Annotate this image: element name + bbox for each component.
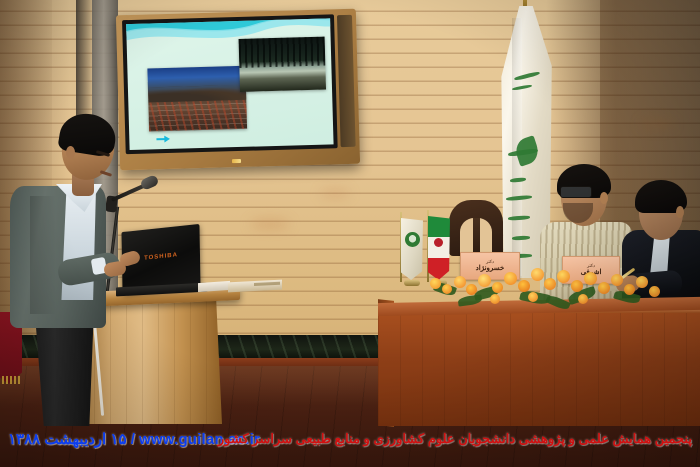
eyeglasses-icon xyxy=(560,186,592,198)
wall-mark xyxy=(320,190,350,197)
slide-photo-forest xyxy=(239,36,326,91)
slide-surface xyxy=(126,18,333,150)
projection-screen[interactable] xyxy=(116,9,360,171)
iran-emblem-icon xyxy=(434,238,443,247)
wall-mark xyxy=(250,220,290,228)
panelist1-ear xyxy=(600,192,608,204)
panelist2-ear xyxy=(676,206,684,218)
event-date: ۱۵ اردیبهشت ۱۳۸۸ xyxy=(8,431,127,448)
flower-arrangement xyxy=(428,262,690,310)
university-desk-flag xyxy=(401,218,423,280)
wall-mark xyxy=(640,120,674,128)
slide-bullet-arrow-icon xyxy=(156,135,170,143)
slide-photo-village xyxy=(148,66,248,132)
photograph-stage: TOSHIBA xyxy=(0,0,700,467)
jacket-fold xyxy=(30,196,56,314)
flag-stand-base xyxy=(404,280,420,286)
event-title: پنجمین همایش علمی و پژوهشی دانشجویان علو… xyxy=(218,431,692,447)
panel-table-front xyxy=(378,310,700,426)
village-rooftops xyxy=(149,100,248,132)
banner-gold-fringe xyxy=(0,376,22,384)
speaker-ear xyxy=(66,146,75,159)
caption-bar: www.guilan.ac.ir / ۱۵ اردیبهشت ۱۳۸۸ پنجم… xyxy=(0,418,700,467)
power-led-icon xyxy=(232,159,241,163)
university-emblem-icon xyxy=(405,232,420,247)
caption-separator: / xyxy=(131,431,135,448)
